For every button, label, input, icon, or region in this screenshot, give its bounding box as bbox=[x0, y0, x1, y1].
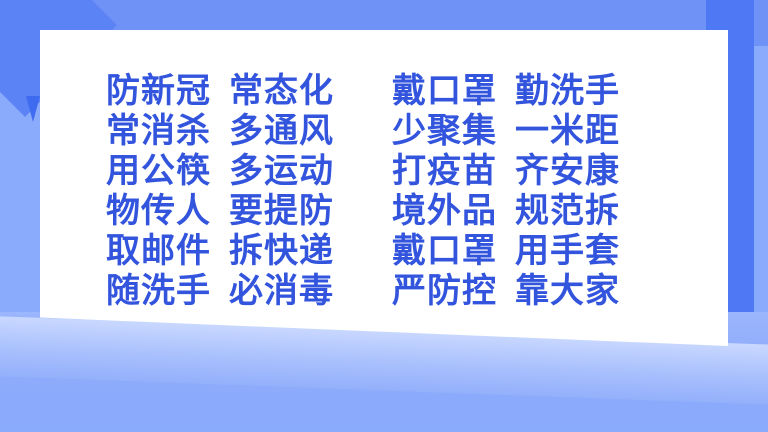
slogan-phrase: 打疫苗 bbox=[392, 152, 497, 190]
slogan-phrase: 戴口罩 bbox=[392, 72, 497, 110]
slogan-col-left: 随洗手 必消毒 bbox=[106, 272, 376, 310]
slogan-col-left: 物传人 要提防 bbox=[106, 192, 376, 230]
slogan-card: 防新冠 常态化 戴口罩 勤洗手 常消杀 多通风 少聚集 一米距 bbox=[40, 30, 728, 346]
slogan-grid: 防新冠 常态化 戴口罩 勤洗手 常消杀 多通风 少聚集 一米距 bbox=[40, 30, 728, 346]
slogan-phrase: 用公筷 bbox=[106, 152, 211, 190]
slogan-phrase: 必消毒 bbox=[229, 272, 334, 310]
slogan-phrase: 拆快递 bbox=[229, 232, 334, 270]
slogan-phrase: 少聚集 bbox=[392, 112, 497, 150]
slogan-col-right: 严防控 靠大家 bbox=[392, 272, 662, 310]
slogan-row: 取邮件 拆快递 戴口罩 用手套 bbox=[40, 231, 728, 271]
slogan-col-right: 境外品 规范拆 bbox=[392, 192, 662, 230]
slogan-phrase: 多运动 bbox=[229, 152, 334, 190]
slogan-col-left: 常消杀 多通风 bbox=[106, 112, 376, 150]
slogan-row: 常消杀 多通风 少聚集 一米距 bbox=[40, 111, 728, 151]
slogan-phrase: 严防控 bbox=[392, 272, 497, 310]
poster-root: 防新冠 常态化 戴口罩 勤洗手 常消杀 多通风 少聚集 一米距 bbox=[0, 0, 768, 432]
slogan-phrase: 常消杀 bbox=[106, 112, 211, 150]
slogan-phrase: 一米距 bbox=[515, 112, 620, 150]
slogan-phrase: 随洗手 bbox=[106, 272, 211, 310]
slogan-col-left: 防新冠 常态化 bbox=[106, 72, 376, 110]
slogan-phrase: 物传人 bbox=[106, 192, 211, 230]
slogan-col-left: 用公筷 多运动 bbox=[106, 152, 376, 190]
left-edge-notch-icon bbox=[26, 96, 40, 122]
slogan-row: 随洗手 必消毒 严防控 靠大家 bbox=[40, 271, 728, 311]
slogan-col-right: 戴口罩 勤洗手 bbox=[392, 72, 662, 110]
slogan-col-left: 取邮件 拆快递 bbox=[106, 232, 376, 270]
slogan-phrase: 常态化 bbox=[229, 72, 334, 110]
slogan-phrase: 要提防 bbox=[229, 192, 334, 230]
slogan-row: 物传人 要提防 境外品 规范拆 bbox=[40, 191, 728, 231]
slogan-phrase: 齐安康 bbox=[515, 152, 620, 190]
slogan-phrase: 用手套 bbox=[515, 232, 620, 270]
slogan-phrase: 靠大家 bbox=[515, 272, 620, 310]
slogan-phrase: 取邮件 bbox=[106, 232, 211, 270]
slogan-row: 防新冠 常态化 戴口罩 勤洗手 bbox=[40, 71, 728, 111]
slogan-phrase: 勤洗手 bbox=[515, 72, 620, 110]
slogan-phrase: 多通风 bbox=[229, 112, 334, 150]
slogan-phrase: 防新冠 bbox=[106, 72, 211, 110]
slogan-col-right: 少聚集 一米距 bbox=[392, 112, 662, 150]
slogan-phrase: 规范拆 bbox=[515, 192, 620, 230]
slogan-col-right: 戴口罩 用手套 bbox=[392, 232, 662, 270]
slogan-phrase: 戴口罩 bbox=[392, 232, 497, 270]
slogan-col-right: 打疫苗 齐安康 bbox=[392, 152, 662, 190]
slogan-phrase: 境外品 bbox=[392, 192, 497, 230]
slogan-row: 用公筷 多运动 打疫苗 齐安康 bbox=[40, 151, 728, 191]
